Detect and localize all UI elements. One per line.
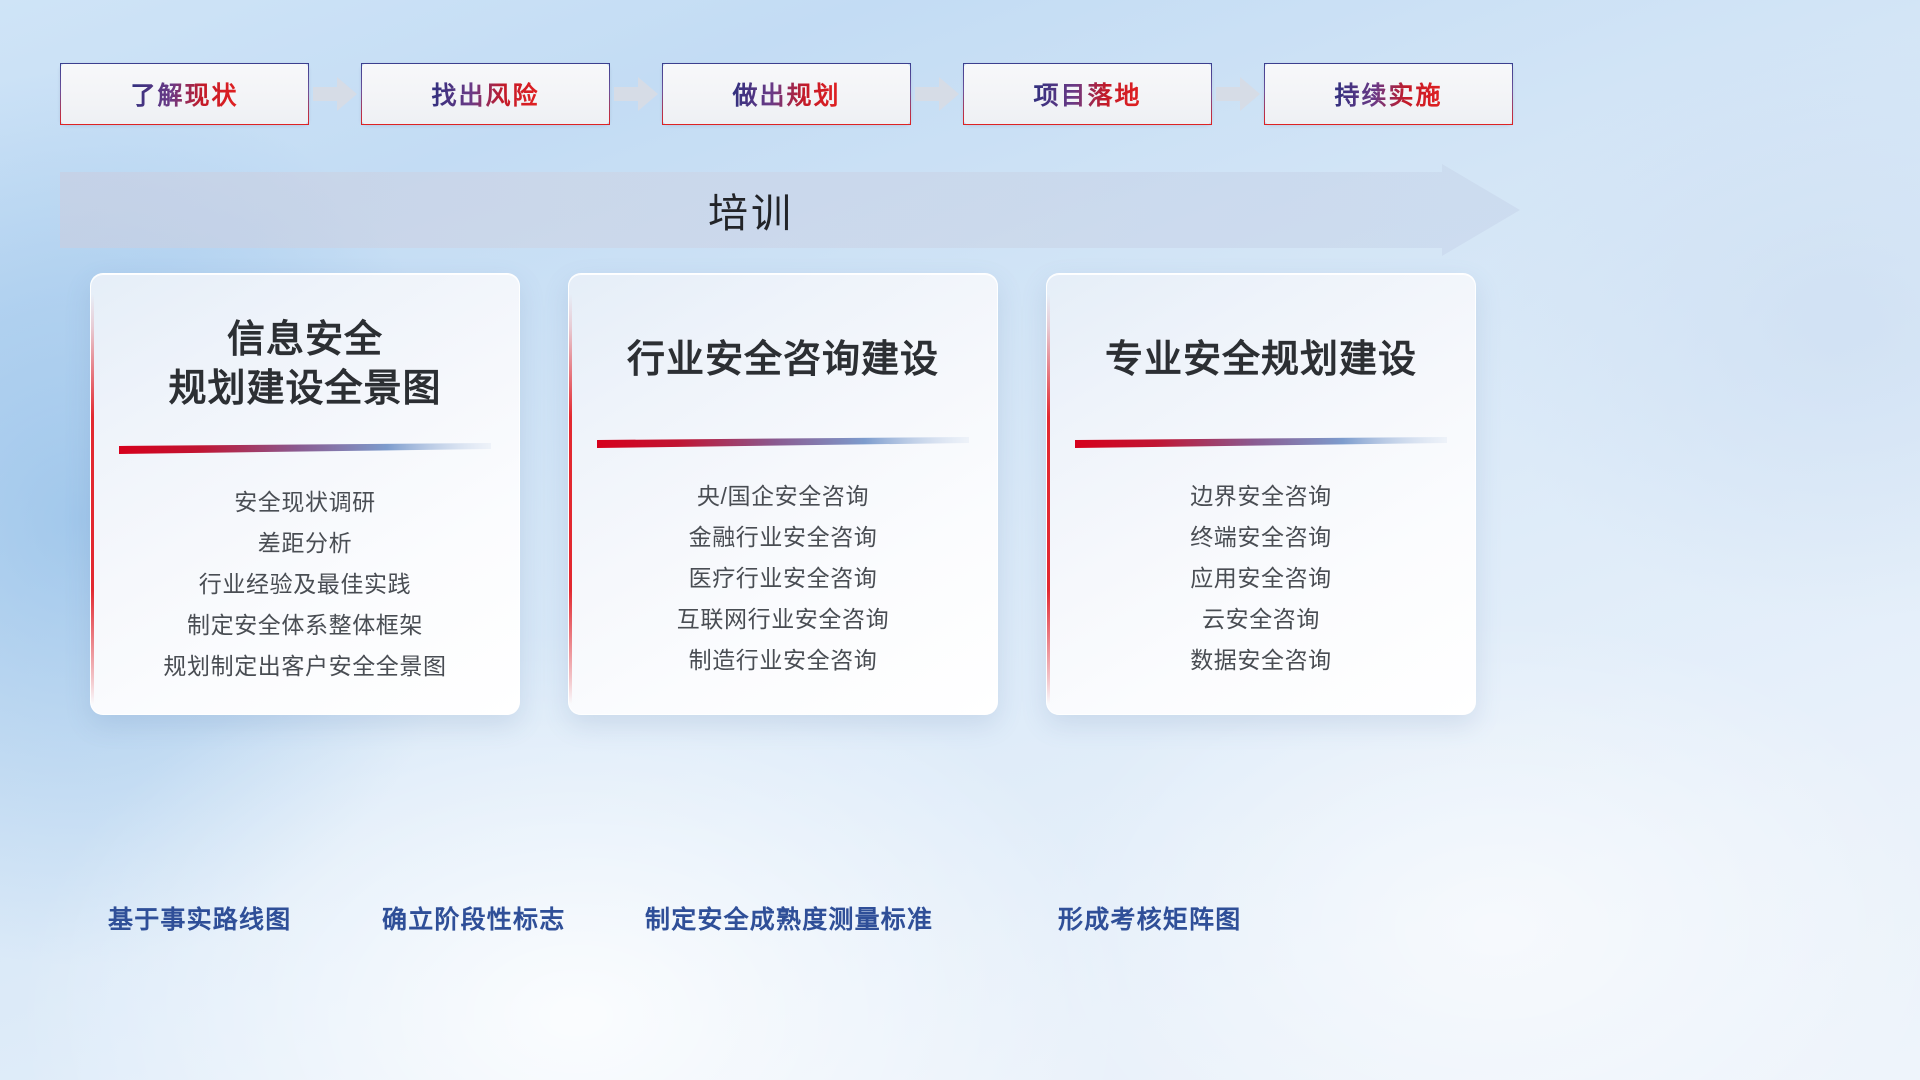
- list-item: 央/国企安全咨询: [569, 476, 997, 517]
- step-box-5[interactable]: 持续实施: [1264, 63, 1513, 125]
- card-item-list: 央/国企安全咨询 金融行业安全咨询 医疗行业安全咨询 互联网行业安全咨询 制造行…: [569, 476, 997, 681]
- gradient-divider: [119, 443, 491, 456]
- card-item-list: 安全现状调研 差距分析 行业经验及最佳实践 制定安全体系整体框架 规划制定出客户…: [91, 482, 519, 687]
- step-label: 项目落地: [1033, 76, 1141, 112]
- caption-roadmap: 基于事实路线图: [108, 900, 291, 936]
- arrow-right-icon: [610, 74, 662, 114]
- card-title: 行业安全咨询建设: [569, 336, 997, 385]
- gradient-divider: [1075, 437, 1447, 450]
- slide-canvas: 了解现状 找出风险 做出规划 项目落地: [0, 0, 1920, 1080]
- arrow-right-icon: [911, 74, 963, 114]
- list-item: 制定安全体系整体框架: [91, 605, 519, 646]
- list-item: 规划制定出客户安全全景图: [91, 646, 519, 687]
- list-item: 制造行业安全咨询: [569, 640, 997, 681]
- step-label: 了解现状: [130, 76, 238, 112]
- list-item: 医疗行业安全咨询: [569, 558, 997, 599]
- arrow-right-icon: [309, 74, 361, 114]
- banner-label: 培训: [60, 164, 1442, 256]
- arrow-right-icon: [1212, 74, 1264, 114]
- step-label: 做出规划: [732, 76, 840, 112]
- step-box-2[interactable]: 找出风险: [361, 63, 610, 125]
- list-item: 行业经验及最佳实践: [91, 564, 519, 605]
- card-information-security-blueprint[interactable]: 信息安全 规划建设全景图 安全现状调研: [90, 273, 520, 715]
- card-row: 信息安全 规划建设全景图 安全现状调研: [90, 273, 1478, 715]
- caption-matrix: 形成考核矩阵图: [1058, 900, 1241, 936]
- list-item: 终端安全咨询: [1047, 517, 1475, 558]
- card-title: 信息安全 规划建设全景图: [91, 316, 519, 413]
- caption-milestone: 确立阶段性标志: [382, 900, 565, 936]
- list-item: 金融行业安全咨询: [569, 517, 997, 558]
- caption-maturity: 制定安全成熟度测量标准: [645, 900, 933, 936]
- list-item: 差距分析: [91, 523, 519, 564]
- card-title: 专业安全规划建设: [1047, 336, 1475, 385]
- card-professional-security-planning[interactable]: 专业安全规划建设 边界安全咨询: [1046, 273, 1476, 715]
- training-banner: 培训: [60, 164, 1520, 256]
- step-label: 找出风险: [431, 76, 539, 112]
- list-item: 边界安全咨询: [1047, 476, 1475, 517]
- list-item: 安全现状调研: [91, 482, 519, 523]
- list-item: 云安全咨询: [1047, 599, 1475, 640]
- list-item: 数据安全咨询: [1047, 640, 1475, 681]
- step-box-4[interactable]: 项目落地: [963, 63, 1212, 125]
- card-industry-security-consulting[interactable]: 行业安全咨询建设 央/国企安全咨询: [568, 273, 998, 715]
- list-item: 应用安全咨询: [1047, 558, 1475, 599]
- step-box-1[interactable]: 了解现状: [60, 63, 309, 125]
- step-label: 持续实施: [1334, 76, 1442, 112]
- process-step-row: 了解现状 找出风险 做出规划 项目落地: [60, 63, 1518, 125]
- list-item: 互联网行业安全咨询: [569, 599, 997, 640]
- gradient-divider: [597, 437, 969, 450]
- caption-row: 基于事实路线图 确立阶段性标志 制定安全成熟度测量标准 形成考核矩阵图: [0, 900, 1920, 946]
- step-box-3[interactable]: 做出规划: [662, 63, 911, 125]
- card-item-list: 边界安全咨询 终端安全咨询 应用安全咨询 云安全咨询 数据安全咨询: [1047, 476, 1475, 681]
